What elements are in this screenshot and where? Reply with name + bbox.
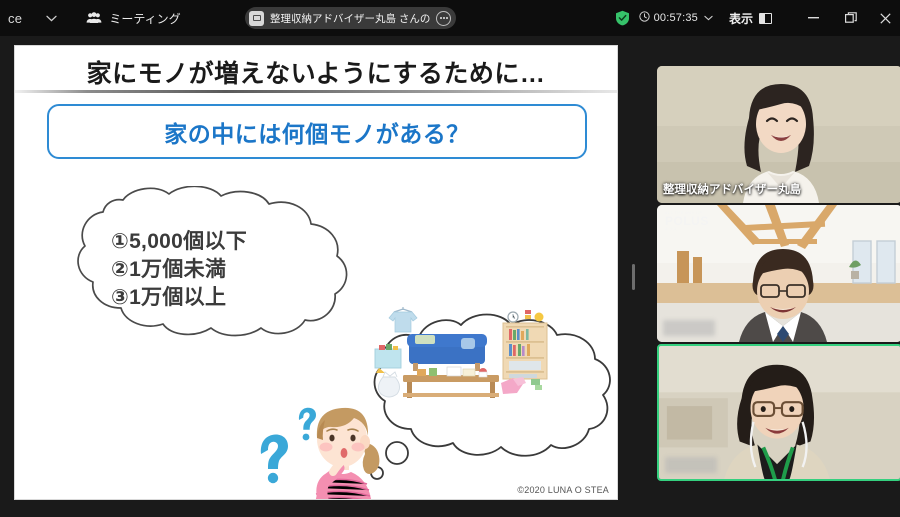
presentation-slide: 家にモノが増えないようにするために… 家の中には何個モノがある？ ①5,000個… xyxy=(14,45,618,500)
shared-window-label: 整理収納アドバイザー丸島 さんの xyxy=(270,11,430,26)
participant-video-panel: 整理収納アドバイザー丸島 xyxy=(639,36,900,517)
answer-list: ①5,000個以下 ②1万個未満 ③1万個以上 xyxy=(111,228,247,312)
title-divider xyxy=(15,90,617,93)
participant-name: 参加者名 xyxy=(665,457,717,473)
thought-bubble-answers: ①5,000個以下 ②1万個未満 ③1万個以上 xyxy=(61,186,366,346)
thinking-woman-illustration xyxy=(245,396,395,500)
restore-window-icon[interactable] xyxy=(832,0,870,36)
workspace-label[interactable]: ce xyxy=(0,11,26,26)
people-icon xyxy=(86,12,102,24)
view-label: 表示 xyxy=(729,10,753,27)
more-options-icon[interactable] xyxy=(436,11,451,26)
titlebar-right-group: 00:57:35 表示 xyxy=(615,0,900,36)
drag-handle-icon xyxy=(632,264,635,290)
view-layout-button[interactable]: 表示 xyxy=(729,10,772,27)
chevron-down-icon[interactable] xyxy=(42,9,60,27)
page-title: 家にモノが増えないようにするために… xyxy=(15,54,617,90)
timer-value: 00:57:35 xyxy=(654,12,698,24)
participant-name: 参加者名 xyxy=(663,320,715,336)
shared-window-icon xyxy=(249,11,264,26)
answer-option-3: ③1万個以上 xyxy=(111,284,247,312)
titlebar: ce ミーティング 整理収 xyxy=(0,0,900,36)
question-text: 家の中には何個モノがある？ xyxy=(164,115,470,149)
participant-tile[interactable]: ALL THE WAY UP POLUS ポラス 参加者名 xyxy=(657,205,900,342)
answer-option-2: ②1万個未満 xyxy=(111,256,247,284)
thought-bubble-room xyxy=(363,301,618,491)
polus-watermark: ALL THE WAY UP POLUS ポラス xyxy=(665,211,709,232)
clock-icon xyxy=(639,11,650,25)
meeting-window: ce ミーティング 整理収 xyxy=(0,0,900,517)
screen-share-indicator[interactable]: 整理収納アドバイザー丸島 さんの xyxy=(245,7,456,29)
question-box: 家の中には何個モノがある？ xyxy=(47,104,587,159)
shield-encryption-icon[interactable] xyxy=(615,10,630,26)
titlebar-left-group: ce ミーティング xyxy=(0,9,181,27)
participant-tile-active-speaker[interactable]: 参加者名 xyxy=(657,344,900,481)
layout-icon xyxy=(759,13,772,24)
shared-content-area[interactable]: 家にモノが増えないようにするために… 家の中には何個モノがある？ ①5,000個… xyxy=(0,36,632,517)
meeting-nav-item[interactable]: ミーティング xyxy=(86,10,180,27)
polus-logo-text: POLUS xyxy=(665,215,709,227)
chevron-down-icon[interactable] xyxy=(704,15,713,21)
living-room-illustration xyxy=(363,301,553,411)
panel-resize-handle[interactable] xyxy=(627,36,639,517)
meeting-label: ミーティング xyxy=(109,10,180,27)
participant-tile[interactable]: 整理収納アドバイザー丸島 xyxy=(657,66,900,203)
participant-name: 整理収納アドバイザー丸島 xyxy=(663,181,801,197)
meeting-timer[interactable]: 00:57:35 xyxy=(639,11,713,25)
copyright-text: ©2020 LUNA O STEA xyxy=(517,485,609,495)
answer-option-1: ①5,000個以下 xyxy=(111,228,247,256)
close-icon[interactable] xyxy=(870,0,900,36)
minimize-icon[interactable] xyxy=(794,0,832,36)
